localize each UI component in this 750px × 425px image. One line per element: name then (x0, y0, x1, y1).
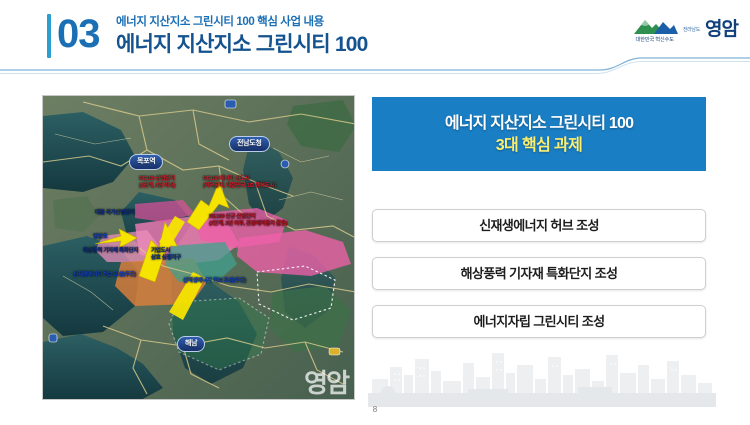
page-number: 8 (0, 405, 750, 415)
map-note-line: 신재생에너지 허브 조성(추진) (183, 278, 246, 284)
section-number: 03 (57, 8, 100, 60)
task-box-energy-independent-green-city[interactable]: 에너지자립 그린시티 조성 (372, 305, 706, 338)
banner-title-line2: 3대 핵심 과제 (496, 135, 583, 156)
page-title: 에너지 지산지소 그린시티 100 (116, 31, 367, 59)
map-note-line: RE100 에너지 신도시(지역공약, 대한민국 1호 행복도시) (203, 176, 276, 189)
header-text-block: 에너지 지산지소 그린시티 100 핵심 사업 내용 에너지 지산지소 그린시티… (116, 14, 367, 59)
task-label: 신재생에너지 허브 조성 (479, 217, 599, 234)
organization-logo: 대한민국 혁신수도 전라남도 영암 (632, 16, 738, 43)
slide-header: 03 에너지 지산지소 그린시티 100 핵심 사업 내용 에너지 지산지소 그… (0, 0, 750, 75)
map-note-offshore-wind-equipment-complex: 해상풍력 기자재 특화단지 (83, 248, 138, 255)
map-note-line: 신재생에너지 허브 조성(추진) (73, 272, 136, 278)
mountain-icon (632, 16, 678, 36)
map-watermark: 영암 (304, 369, 348, 397)
banner-title-line1: 에너지 지산지소 그린시티 100 (445, 113, 633, 134)
logo-mark-wrap: 대한민국 혁신수도 (632, 16, 678, 43)
city-skyline-decoration (368, 345, 716, 407)
task-label: 해상풍력 기자재 특화단지 조성 (461, 265, 618, 282)
map-note-re100-industrial-complex: RE100 산업단지(1단계, 3년 이내) (139, 176, 175, 190)
map-note-yeongam-lake: 영암호 (93, 234, 107, 241)
map-note-renewable-energy-hub-left: 신재생에너지 허브 조성(추진) (73, 272, 136, 279)
map-note-line: 대불 국가산업단지 (95, 210, 135, 216)
map-pill-mokpo-station[interactable]: 목포역 (129, 154, 163, 170)
header-divider-swoosh (0, 56, 750, 78)
map-note-line: 기업도시삼호 심정지구 (151, 248, 181, 261)
map-pill-jeonnam-provincial-office[interactable]: 전남도청 (229, 136, 270, 152)
map-note-line: RE100 산업단지(1단계, 3년 이내) (139, 176, 175, 189)
map-note-re100-new-industrial-complex: RE100 신규 산업단지(2단계, 3년 이후, 관광레저용지 활용) (209, 214, 287, 228)
map-note-re100-energy-new-city: RE100 에너지 신도시(지역공약, 대한민국 1호 행복도시) (203, 176, 276, 190)
map-note-enterprise-city-samho: 기업도시삼호 심정지구 (151, 248, 181, 262)
logo-name: 영암 (705, 19, 738, 41)
header-accent-bar (47, 14, 51, 58)
map-note-daebul-national-industrial-complex: 대불 국가산업단지 (95, 210, 135, 217)
map-note-line: 해상풍력 기자재 특화단지 (83, 248, 138, 254)
slide: 03 에너지 지산지소 그린시티 100 핵심 사업 내용 에너지 지산지소 그… (0, 0, 750, 425)
key-tasks-banner: 에너지 지산지소 그린시티 100 3대 핵심 과제 (372, 97, 706, 171)
map-note-line: RE100 신규 산업단지(2단계, 3년 이후, 관광레저용지 활용) (209, 214, 287, 227)
page-subtitle: 에너지 지산지소 그린시티 100 핵심 사업 내용 (116, 14, 367, 30)
task-box-offshore-wind-complex[interactable]: 해상풍력 기자재 특화단지 조성 (372, 257, 706, 290)
logo-slogan: 대한민국 혁신수도 (636, 37, 674, 44)
map-pill-haenam[interactable]: 해남 (177, 336, 205, 352)
task-label: 에너지자립 그린시티 조성 (474, 313, 605, 330)
task-box-renewable-energy-hub[interactable]: 신재생에너지 허브 조성 (372, 209, 706, 242)
satellite-map[interactable]: 전남도청 목포역 해남 RE100 산업단지(1단계, 3년 이내) RE100… (42, 95, 355, 400)
logo-province: 전라남도 (683, 27, 700, 33)
key-tasks-list: 신재생에너지 허브 조성 해상풍력 기자재 특화단지 조성 에너지자립 그린시티… (372, 209, 706, 338)
map-note-line: 영암호 (93, 234, 107, 240)
map-note-renewable-energy-hub-right: 신재생에너지 허브 조성(추진) (183, 278, 246, 285)
